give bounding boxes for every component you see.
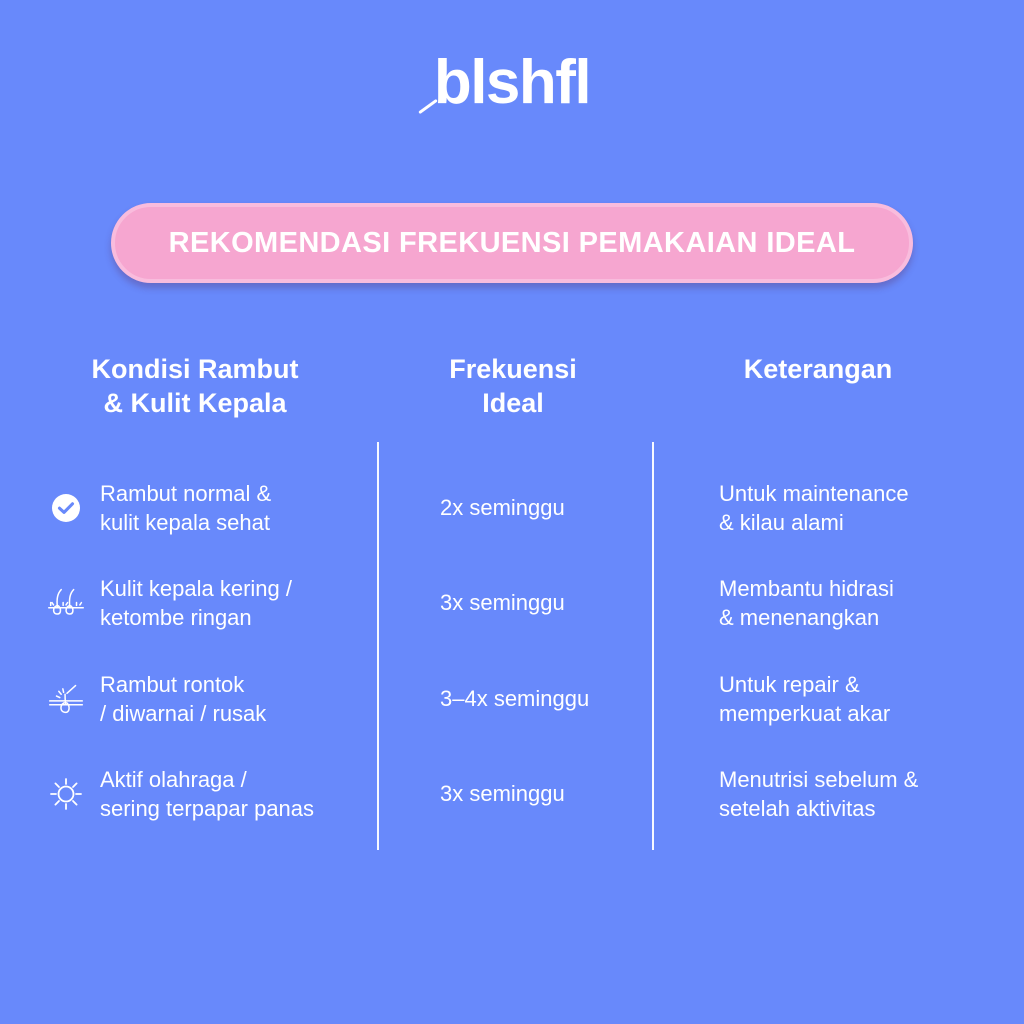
frequency-cell: 3x seminggu bbox=[398, 555, 638, 651]
dry-scalp-dandruff-icon bbox=[44, 581, 88, 625]
recommendation-table: Kondisi Rambut & Kulit Kepala Frekuensi … bbox=[0, 352, 1024, 872]
condition-line2: ketombe ringan bbox=[100, 603, 292, 632]
frequency-text: 3–4x seminggu bbox=[440, 684, 589, 713]
poster-canvas: blshfl REKOMENDASI FREKUENSI PEMAKAIAN I… bbox=[0, 0, 1024, 1024]
column-header-condition: Kondisi Rambut & Kulit Kepala bbox=[30, 352, 360, 421]
note-line1: Membantu hidrasi bbox=[719, 574, 894, 603]
headline-pill: REKOMENDASI FREKUENSI PEMAKAIAN IDEAL bbox=[111, 203, 913, 283]
condition-line2: sering terpapar panas bbox=[100, 794, 314, 823]
frequency-cell: 2x seminggu bbox=[398, 460, 638, 556]
condition-line1: Rambut rontok bbox=[100, 670, 266, 699]
condition-cell: Kulit kepala kering / ketombe ringan bbox=[44, 555, 364, 651]
headline-title: REKOMENDASI FREKUENSI PEMAKAIAN IDEAL bbox=[169, 227, 856, 260]
brand-name: blshfl bbox=[434, 48, 590, 117]
frequency-cell: 3–4x seminggu bbox=[398, 651, 638, 747]
table-row: Aktif olahraga / sering terpapar panas 3… bbox=[0, 746, 1024, 842]
note-cell: Menutrisi sebelum & setelah aktivitas bbox=[719, 746, 1009, 842]
note-text: Menutrisi sebelum & setelah aktivitas bbox=[719, 765, 918, 824]
note-cell: Membantu hidrasi & menenangkan bbox=[719, 555, 1009, 651]
condition-cell: Rambut rontok / diwarnai / rusak bbox=[44, 651, 364, 747]
check-circle-icon bbox=[44, 486, 88, 530]
note-line2: & kilau alami bbox=[719, 508, 909, 537]
condition-line2: / diwarnai / rusak bbox=[100, 699, 266, 728]
table-row: Rambut rontok / diwarnai / rusak 3–4x se… bbox=[0, 651, 1024, 747]
note-line1: Untuk maintenance bbox=[719, 479, 909, 508]
note-cell: Untuk maintenance & kilau alami bbox=[719, 460, 1009, 556]
note-text: Membantu hidrasi & menenangkan bbox=[719, 574, 894, 633]
column-header-note-line1: Keterangan bbox=[668, 352, 968, 386]
condition-text: Kulit kepala kering / ketombe ringan bbox=[100, 574, 292, 633]
column-header-frequency-line2: Ideal bbox=[388, 386, 638, 420]
note-cell: Untuk repair & memperkuat akar bbox=[719, 651, 1009, 747]
condition-text: Rambut normal & kulit kepala sehat bbox=[100, 479, 271, 538]
headline-banner: REKOMENDASI FREKUENSI PEMAKAIAN IDEAL bbox=[111, 203, 913, 283]
sun-heat-icon bbox=[44, 772, 88, 816]
note-line1: Untuk repair & bbox=[719, 670, 890, 699]
condition-text: Aktif olahraga / sering terpapar panas bbox=[100, 765, 314, 824]
column-header-frequency-line1: Frekuensi bbox=[388, 352, 638, 386]
condition-cell: Rambut normal & kulit kepala sehat bbox=[44, 460, 364, 556]
note-line2: setelah aktivitas bbox=[719, 794, 918, 823]
condition-line1: Aktif olahraga / bbox=[100, 765, 314, 794]
condition-cell: Aktif olahraga / sering terpapar panas bbox=[44, 746, 364, 842]
column-header-frequency: Frekuensi Ideal bbox=[388, 352, 638, 421]
table-row: Kulit kepala kering / ketombe ringan 3x … bbox=[0, 555, 1024, 651]
note-text: Untuk repair & memperkuat akar bbox=[719, 670, 890, 729]
note-line1: Menutrisi sebelum & bbox=[719, 765, 918, 794]
table-row: Rambut normal & kulit kepala sehat 2x se… bbox=[0, 460, 1024, 556]
column-header-condition-line2: & Kulit Kepala bbox=[30, 386, 360, 420]
column-header-note: Keterangan bbox=[668, 352, 968, 386]
frequency-cell: 3x seminggu bbox=[398, 746, 638, 842]
brand-logo: blshfl bbox=[0, 52, 1024, 114]
note-line2: & menenangkan bbox=[719, 603, 894, 632]
hair-fall-damage-icon bbox=[44, 677, 88, 721]
condition-line1: Rambut normal & bbox=[100, 479, 271, 508]
frequency-text: 2x seminggu bbox=[440, 493, 565, 522]
note-line2: memperkuat akar bbox=[719, 699, 890, 728]
frequency-text: 3x seminggu bbox=[440, 779, 565, 808]
column-header-condition-line1: Kondisi Rambut bbox=[30, 352, 360, 386]
note-text: Untuk maintenance & kilau alami bbox=[719, 479, 909, 538]
condition-line1: Kulit kepala kering / bbox=[100, 574, 292, 603]
frequency-text: 3x seminggu bbox=[440, 588, 565, 617]
condition-text: Rambut rontok / diwarnai / rusak bbox=[100, 670, 266, 729]
condition-line2: kulit kepala sehat bbox=[100, 508, 271, 537]
